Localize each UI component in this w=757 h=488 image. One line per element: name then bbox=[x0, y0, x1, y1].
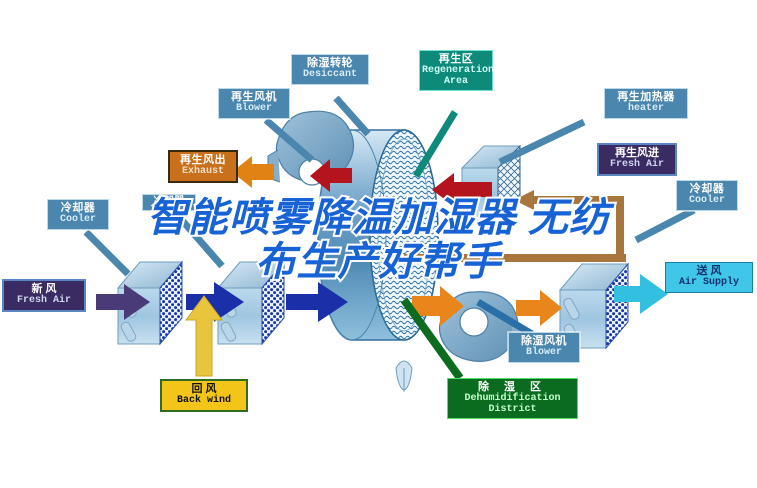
leader-dehumid-district bbox=[404, 300, 460, 378]
leader-cooler-left bbox=[86, 232, 128, 274]
diagram-canvas: 除湿转轮 Desiccant 再生风机 Blower 再生区 Regenerat… bbox=[0, 0, 757, 488]
label-dehumid-blower[interactable]: 除湿风机 Blower bbox=[508, 332, 580, 363]
label-fresh-air-in[interactable]: 新 风 Fresh Air bbox=[2, 279, 86, 312]
label-air-supply-en: Air Supply bbox=[668, 278, 750, 289]
label-cooler-right[interactable]: 冷却器 Cooler bbox=[676, 180, 738, 211]
leader-desiccant bbox=[336, 98, 368, 134]
leader-cooler-right bbox=[636, 210, 694, 240]
label-dehumidification-district-en: Dehumidification District bbox=[450, 394, 575, 416]
label-air-supply[interactable]: 送 风 Air Supply bbox=[665, 262, 753, 293]
label-regen-exhaust-en: Exhaust bbox=[172, 167, 234, 178]
label-cooler-left-en: Cooler bbox=[50, 215, 106, 226]
leader-dehumid-blower bbox=[478, 302, 532, 334]
leader-regen-blower bbox=[266, 120, 312, 160]
label-regen-fresh-air-in[interactable]: 再生风进 Fresh Air bbox=[597, 143, 677, 176]
label-regen-blower-en: Blower bbox=[221, 104, 287, 115]
label-fresh-air-in-en: Fresh Air bbox=[6, 296, 82, 307]
label-regen-heater[interactable]: 再生加热器 heater bbox=[604, 88, 688, 119]
label-cooler-left-secondary[interactable]: 冷却器 bbox=[142, 194, 196, 211]
label-regen-fresh-air-in-en: Fresh Air bbox=[601, 160, 673, 171]
leader-regen-area bbox=[416, 112, 455, 176]
label-regen-exhaust[interactable]: 再生风出 Exhaust bbox=[168, 150, 238, 183]
leader-heater bbox=[500, 122, 584, 162]
label-cooler-left[interactable]: 冷却器 Cooler bbox=[47, 199, 109, 230]
label-back-wind[interactable]: 回 风 Back wind bbox=[160, 379, 248, 412]
label-regeneration-area-en: Regeneration Area bbox=[422, 66, 490, 88]
label-back-wind-en: Back wind bbox=[164, 396, 244, 407]
label-desiccant-wheel[interactable]: 除湿转轮 Desiccant bbox=[291, 54, 369, 85]
label-cooler-right-en: Cooler bbox=[679, 196, 735, 207]
leader-lines bbox=[0, 0, 757, 488]
label-cooler-left-secondary-cn: 冷却器 bbox=[145, 197, 193, 208]
label-regeneration-area[interactable]: 再生区 Regeneration Area bbox=[419, 50, 493, 91]
label-regen-heater-en: heater bbox=[607, 104, 685, 115]
leader-cooler-left-2 bbox=[180, 218, 222, 266]
label-dehumid-blower-en: Blower bbox=[511, 348, 577, 359]
label-regen-blower[interactable]: 再生风机 Blower bbox=[218, 88, 290, 119]
label-dehumidification-district[interactable]: 除 湿 区 Dehumidification District bbox=[447, 378, 578, 419]
label-desiccant-wheel-en: Desiccant bbox=[294, 70, 366, 81]
